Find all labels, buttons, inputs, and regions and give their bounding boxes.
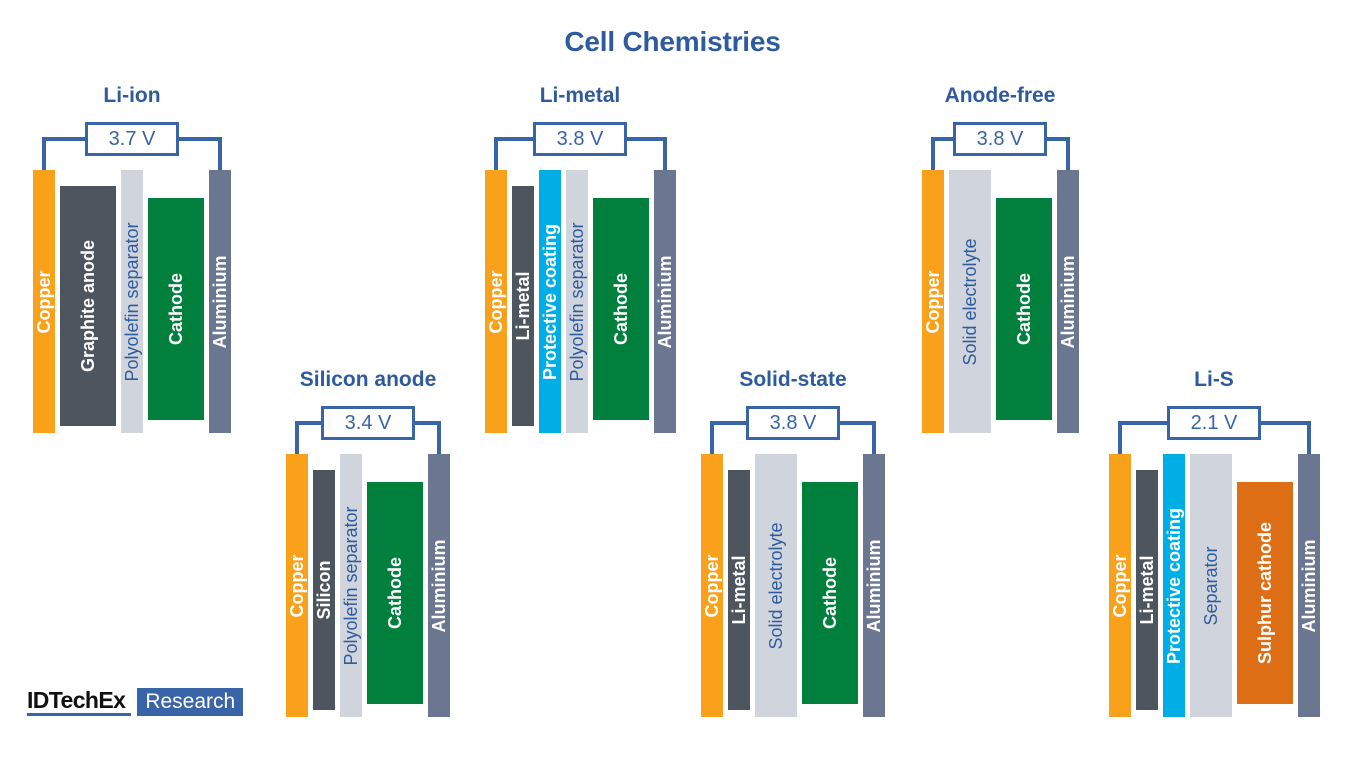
wire-left-horizontal (931, 137, 953, 141)
layer-li-metal: Li-metal (1136, 470, 1158, 710)
cell-title: Li-metal (470, 84, 690, 108)
layer-label: Copper (35, 270, 53, 333)
layer-label: Solid electrolyte (961, 238, 979, 365)
layer-label: Copper (288, 554, 306, 617)
cell-title: Silicon anode (262, 368, 474, 392)
layer-label: Li-metal (1138, 555, 1156, 624)
layer-protective-coating: Protective coating (539, 170, 561, 433)
layer-copper: Copper (286, 454, 308, 717)
logo-research-badge: Research (137, 688, 243, 716)
layer-copper: Copper (33, 170, 55, 433)
layer-label: Graphite anode (79, 240, 97, 372)
layer-label: Solid electrolyte (767, 522, 785, 649)
layer-label: Separator (1202, 546, 1220, 625)
wire-right-horizontal (1261, 421, 1311, 425)
layer-copper: Copper (485, 170, 507, 433)
voltage-label: 3.4 V (321, 406, 415, 440)
layer-label: Polyolefin separator (342, 506, 360, 665)
layer-protective-coating: Protective coating (1163, 454, 1185, 717)
layer-separator: Separator (1190, 454, 1232, 717)
layer-polyolefin-separator: Polyolefin separator (566, 170, 588, 433)
wire-right-horizontal (840, 421, 876, 425)
layer-label: Silicon (315, 560, 333, 619)
cell-title: Li-S (1100, 368, 1328, 392)
layer-li-metal: Li-metal (512, 186, 534, 426)
layer-label: Aluminium (1059, 255, 1077, 348)
layer-label: Aluminium (865, 539, 883, 632)
voltage-label: 3.7 V (85, 122, 179, 156)
circuit-wiring: 2.1 V (1100, 398, 1328, 460)
layer-aluminium: Aluminium (428, 454, 450, 717)
layer-sulphur-cathode: Sulphur cathode (1237, 482, 1293, 704)
layer-label: Copper (487, 270, 505, 333)
layer-cathode: Cathode (996, 198, 1052, 420)
layer-aluminium: Aluminium (863, 454, 885, 717)
layer-stack: CopperGraphite anodePolyolefin separator… (22, 170, 242, 433)
layer-label: Copper (924, 270, 942, 333)
layer-polyolefin-separator: Polyolefin separator (121, 170, 143, 433)
wire-left-horizontal (1118, 421, 1167, 425)
layer-label: Cathode (1015, 273, 1033, 345)
layer-aluminium: Aluminium (209, 170, 231, 433)
cell-title: Anode-free (910, 84, 1090, 108)
layer-label: Li-metal (730, 555, 748, 624)
cell-diagram-solid-state: Solid-state3.8 VCopperLi-metalSolid elec… (695, 368, 891, 708)
voltage-label: 3.8 V (953, 122, 1047, 156)
layer-label: Cathode (167, 273, 185, 345)
layer-label: Copper (703, 554, 721, 617)
layer-cathode: Cathode (148, 198, 204, 420)
cell-diagram-li-ion: Li-ion3.7 VCopperGraphite anodePolyolefi… (22, 84, 242, 424)
wire-right-horizontal (415, 421, 441, 425)
layer-label: Aluminium (211, 255, 229, 348)
circuit-wiring: 3.8 V (910, 114, 1090, 176)
layer-cathode: Cathode (802, 482, 858, 704)
layer-aluminium: Aluminium (1298, 454, 1320, 717)
cell-diagram-li-metal: Li-metal3.8 VCopperLi-metalProtective co… (470, 84, 690, 424)
layer-copper: Copper (701, 454, 723, 717)
layer-label: Aluminium (1300, 539, 1318, 632)
layer-aluminium: Aluminium (654, 170, 676, 433)
voltage-label: 2.1 V (1167, 406, 1261, 440)
layer-silicon: Silicon (313, 470, 335, 710)
layer-solid-electrolyte: Solid electrolyte (755, 454, 797, 717)
layer-stack: CopperLi-metalProtective coatingPolyolef… (470, 170, 690, 433)
wire-right-horizontal (1047, 137, 1070, 141)
wire-left-horizontal (42, 137, 85, 141)
layer-label: Sulphur cathode (1256, 522, 1274, 664)
layer-aluminium: Aluminium (1057, 170, 1079, 433)
layer-stack: CopperSiliconPolyolefin separatorCathode… (262, 454, 474, 717)
layer-label: Cathode (612, 273, 630, 345)
page-title: Cell Chemistries (0, 26, 1345, 58)
wire-right-horizontal (627, 137, 667, 141)
circuit-wiring: 3.8 V (470, 114, 690, 176)
wire-left-horizontal (295, 421, 321, 425)
layer-label: Li-metal (514, 271, 532, 340)
idtechex-logo: IDTechEx Research (27, 688, 243, 716)
layer-label: Cathode (821, 557, 839, 629)
circuit-wiring: 3.8 V (695, 398, 891, 460)
voltage-label: 3.8 V (746, 406, 840, 440)
layer-copper: Copper (922, 170, 944, 433)
layer-label: Polyolefin separator (568, 222, 586, 381)
layer-cathode: Cathode (367, 482, 423, 704)
cell-diagram-anode-free: Anode-free3.8 VCopperSolid electrolyteCa… (910, 84, 1090, 424)
voltage-label: 3.8 V (533, 122, 627, 156)
wire-left-horizontal (710, 421, 746, 425)
logo-wordmark: IDTechEx (27, 688, 131, 716)
cell-diagram-li-s: Li-S2.1 VCopperLi-metalProtective coatin… (1100, 368, 1328, 708)
layer-li-metal: Li-metal (728, 470, 750, 710)
layer-label: Protective coating (541, 223, 559, 379)
layer-label: Polyolefin separator (123, 222, 141, 381)
layer-label: Aluminium (430, 539, 448, 632)
layer-solid-electrolyte: Solid electrolyte (949, 170, 991, 433)
wire-right-horizontal (179, 137, 222, 141)
layer-label: Aluminium (656, 255, 674, 348)
cell-diagram-silicon-anode: Silicon anode3.4 VCopperSiliconPolyolefi… (262, 368, 474, 708)
layer-label: Copper (1111, 554, 1129, 617)
cell-title: Solid-state (695, 368, 891, 392)
layer-graphite-anode: Graphite anode (60, 186, 116, 426)
layer-stack: CopperLi-metalSolid electrolyteCathodeAl… (695, 454, 891, 717)
circuit-wiring: 3.4 V (262, 398, 474, 460)
layer-copper: Copper (1109, 454, 1131, 717)
layer-cathode: Cathode (593, 198, 649, 420)
layer-polyolefin-separator: Polyolefin separator (340, 454, 362, 717)
layer-label: Cathode (386, 557, 404, 629)
layer-stack: CopperSolid electrolyteCathodeAluminium (910, 170, 1090, 433)
layer-stack: CopperLi-metalProtective coatingSeparato… (1100, 454, 1328, 717)
cell-title: Li-ion (22, 84, 242, 108)
layer-label: Protective coating (1165, 507, 1183, 663)
circuit-wiring: 3.7 V (22, 114, 242, 176)
wire-left-horizontal (494, 137, 533, 141)
